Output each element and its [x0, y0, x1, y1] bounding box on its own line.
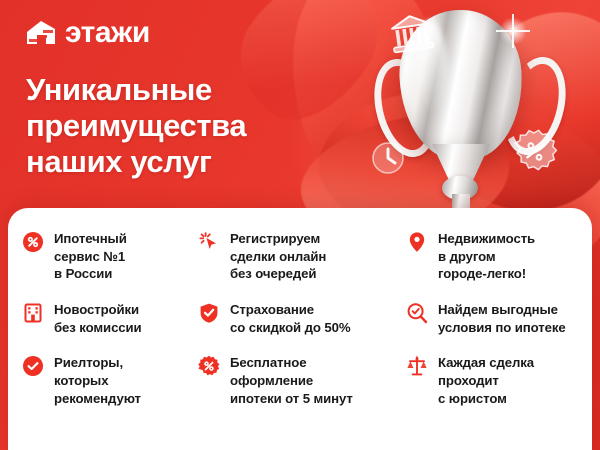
- feature-label-line: которых: [54, 372, 141, 390]
- cursor-click-icon: [198, 231, 220, 253]
- feature-item: Каждая сделкапроходитс юристом: [406, 354, 578, 407]
- feature-label: Каждая сделкапроходитс юристом: [438, 354, 534, 407]
- feature-label: Бесплатноеоформлениеипотеки от 5 минут: [230, 354, 353, 407]
- features-card: Ипотечныйсервис №1в России Регистрируемс…: [8, 208, 592, 450]
- feature-item: Риелторы,которыхрекомендуют: [22, 354, 190, 407]
- feature-label-line: без комиссии: [54, 319, 142, 337]
- shield-check-icon: [198, 302, 220, 324]
- feature-label: Страхованиесо скидкой до 50%: [230, 301, 351, 336]
- feature-label-line: оформление: [230, 372, 353, 390]
- feature-label-line: без очередей: [230, 265, 326, 283]
- feature-label: Ипотечныйсервис №1в России: [54, 230, 127, 283]
- feature-item: Страхованиесо скидкой до 50%: [198, 301, 398, 336]
- feature-label-line: Страхование: [230, 301, 351, 319]
- feature-label: Регистрируемсделки онлайнбез очередей: [230, 230, 326, 283]
- feature-item: Бесплатноеоформлениеипотеки от 5 минут: [198, 354, 398, 407]
- feature-label-line: проходит: [438, 372, 534, 390]
- feature-item: Регистрируемсделки онлайнбез очередей: [198, 230, 398, 283]
- feature-label-line: рекомендуют: [54, 390, 141, 408]
- feature-label-line: в России: [54, 265, 127, 283]
- search-check-icon: [406, 302, 428, 324]
- feature-label-line: со скидкой до 50%: [230, 319, 351, 337]
- feature-item: Недвижимостьв другомгороде-легко!: [406, 230, 578, 283]
- percent-badge-icon: [508, 124, 561, 177]
- feature-label: Риелторы,которыхрекомендуют: [54, 354, 141, 407]
- promo-banner: этажи Уникальные преимущества наших услу…: [0, 0, 600, 450]
- headline-line-3: наших услуг: [26, 144, 246, 180]
- feature-label: Недвижимостьв другомгороде-легко!: [438, 230, 535, 283]
- scales-icon: [406, 355, 428, 377]
- feature-label-line: Каждая сделка: [438, 354, 534, 372]
- building-stairs-icon: [26, 20, 56, 46]
- feature-item: Ипотечныйсервис №1в России: [22, 230, 190, 283]
- feature-label-line: Найдем выгодные: [438, 301, 566, 319]
- brand-logo[interactable]: этажи: [26, 18, 150, 48]
- feature-label-line: сервис №1: [54, 248, 127, 266]
- feature-label-line: городе-легко!: [438, 265, 535, 283]
- sparkle-icon: [496, 14, 530, 48]
- building-icon: [22, 302, 44, 324]
- feature-label-line: условия по ипотеке: [438, 319, 566, 337]
- feature-item: Найдем выгодныеусловия по ипотеке: [406, 301, 578, 336]
- logo-text: этажи: [65, 18, 150, 48]
- feature-label: Новостройкибез комиссии: [54, 301, 142, 336]
- feature-label-line: Бесплатное: [230, 354, 353, 372]
- feature-label-line: ипотеки от 5 минут: [230, 390, 353, 408]
- feature-label: Найдем выгодныеусловия по ипотеке: [438, 301, 566, 336]
- clock-icon: [370, 140, 406, 176]
- check-circle-icon: [22, 355, 44, 377]
- percent-badge-icon: [198, 355, 220, 377]
- bank-icon: [385, 9, 439, 59]
- feature-label-line: Регистрируем: [230, 230, 326, 248]
- page-title: Уникальные преимущества наших услуг: [26, 72, 246, 180]
- feature-label-line: Ипотечный: [54, 230, 127, 248]
- feature-label-line: сделки онлайн: [230, 248, 326, 266]
- map-pin-icon: [406, 231, 428, 253]
- headline-line-1: Уникальные: [26, 72, 246, 108]
- feature-label-line: Недвижимость: [438, 230, 535, 248]
- feature-label-line: в другом: [438, 248, 535, 266]
- feature-label-line: Риелторы,: [54, 354, 141, 372]
- percent-circle-icon: [22, 231, 44, 253]
- headline-line-2: преимущества: [26, 108, 246, 144]
- feature-item: Новостройкибез комиссии: [22, 301, 190, 336]
- feature-label-line: Новостройки: [54, 301, 142, 319]
- feature-label-line: с юристом: [438, 390, 534, 408]
- features-grid: Ипотечныйсервис №1в России Регистрируемс…: [8, 208, 592, 408]
